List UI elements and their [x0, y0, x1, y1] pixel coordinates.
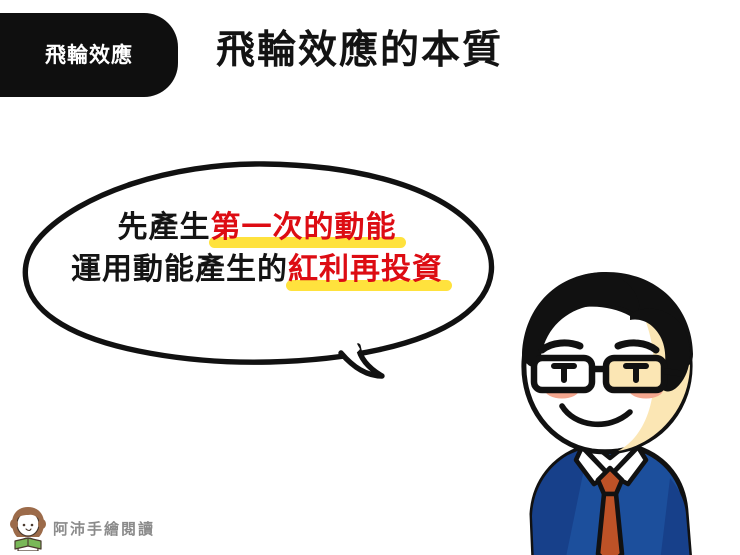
suit-group [532, 440, 690, 555]
chapter-tag: 飛輪效應 [0, 13, 178, 97]
speech-bubble: 先產生第一次的動能 運用動能產生的紅利再投資 [8, 150, 518, 390]
page-title: 飛輪效應的本質 [216, 30, 503, 73]
bubble-line-1-segment-2-highlighted: 第一次的動能 [211, 206, 397, 250]
reader-logo-icon [9, 505, 47, 551]
bubble-line-2: 運用動能產生的紅利再投資 [8, 248, 506, 292]
speech-bubble-text: 先產生第一次的動能 運用動能產生的紅利再投資 [8, 206, 506, 293]
bubble-line-1-segment-1: 先產生 [118, 211, 211, 244]
bubble-line-2-segment-1: 運用動能產生的 [71, 253, 288, 286]
bubble-line-1: 先產生第一次的動能 [8, 206, 506, 250]
watermark: 阿沛手繪閱讀 [9, 503, 199, 553]
watermark-label: 阿沛手繪閱讀 [53, 518, 155, 539]
bubble-line-2-segment-2-highlighted: 紅利再投資 [288, 248, 443, 292]
character-illustration [470, 262, 740, 555]
chapter-tag-label: 飛輪效應 [45, 45, 133, 66]
slide-canvas: 飛輪效應 飛輪效應的本質 先產生第一次的動能 運用動能產生的紅利再投資 [0, 0, 740, 555]
head-group [522, 272, 693, 452]
glasses-icon [534, 358, 684, 390]
businessman-icon [470, 262, 740, 555]
